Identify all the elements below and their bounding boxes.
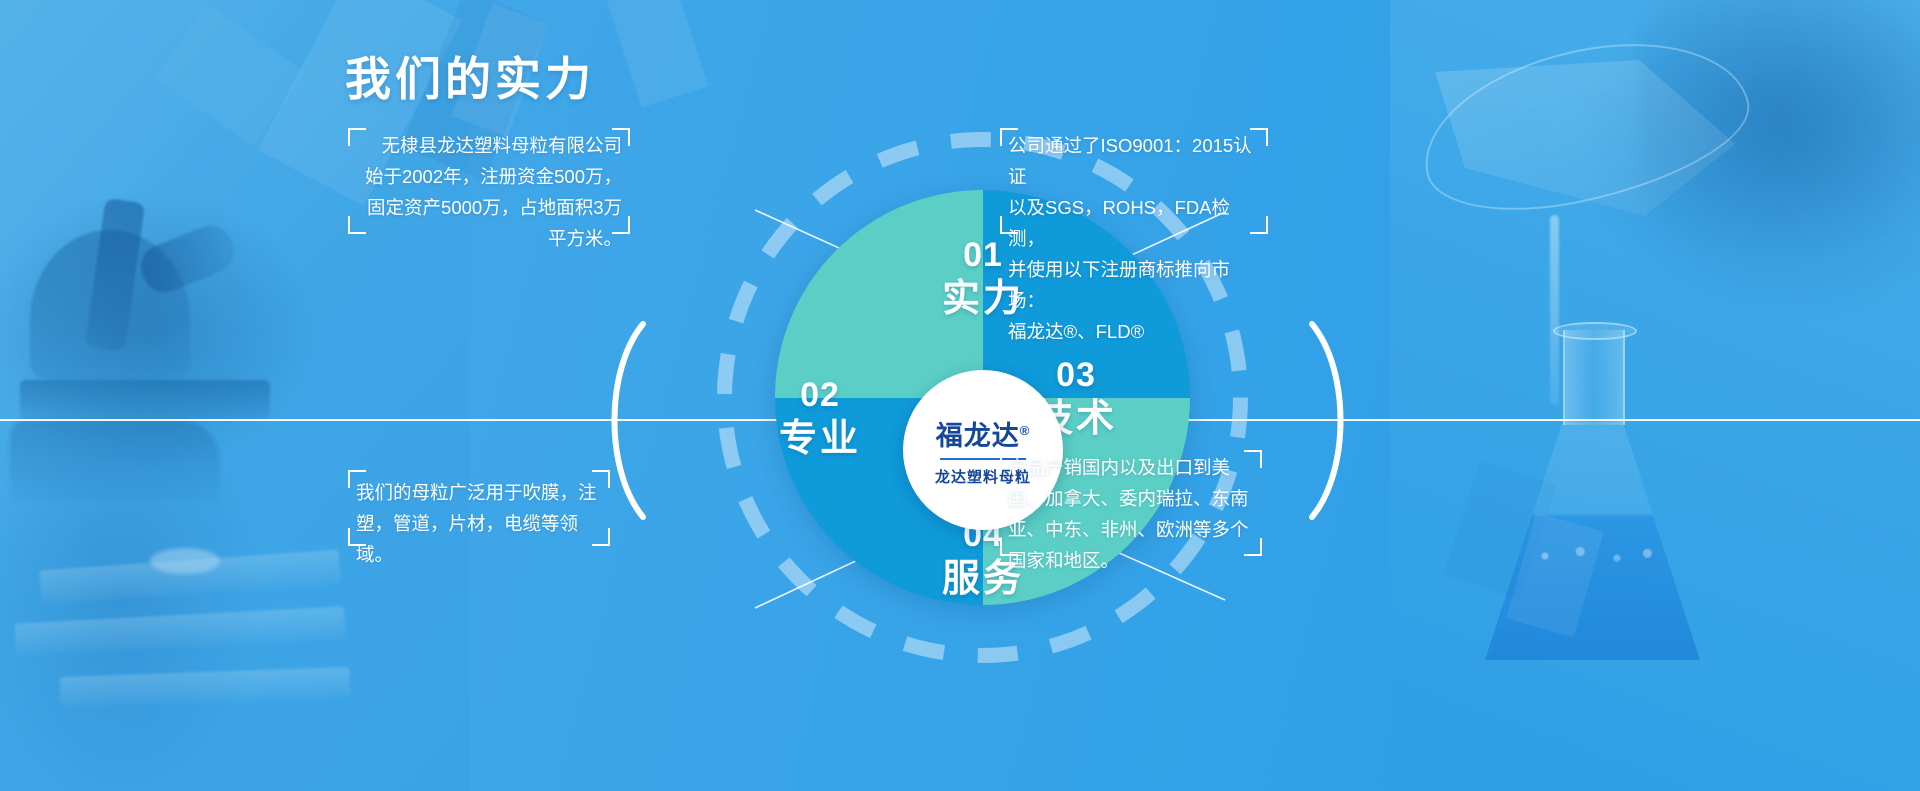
corner-bracket-icon: [1000, 128, 1018, 146]
corner-bracket-icon: [592, 470, 610, 488]
wheel-number-02: 02: [752, 378, 888, 412]
corner-bracket-icon: [1244, 450, 1262, 468]
brand-name: 福龙达: [936, 421, 1020, 451]
corner-bracket-icon: [348, 216, 366, 234]
corner-bracket-icon: [1000, 538, 1018, 556]
right-bracket-decoration: [1300, 318, 1370, 523]
callout-text: 公司通过了ISO9001：2015认证 以及SGS，ROHS，FDA检测， 并使…: [1000, 128, 1268, 349]
callout-bottom-right: 产品产销国内以及出口到美 国、加拿大、委内瑞拉、东南 亚、中东、非州、欧洲等多个…: [1000, 450, 1262, 556]
corner-bracket-icon: [1250, 128, 1268, 146]
corner-bracket-icon: [1244, 538, 1262, 556]
content-layer: 我们的实力 01 实力 02 专业 03 技术 04 服务: [0, 0, 1920, 791]
corner-bracket-icon: [348, 470, 366, 488]
brand-name-wrap: 福龙达®: [936, 414, 1031, 453]
wheel-label-02: 02 专业: [752, 378, 888, 458]
callout-text: 产品产销国内以及出口到美 国、加拿大、委内瑞拉、东南 亚、中东、非州、欧洲等多个…: [1000, 450, 1262, 578]
corner-bracket-icon: [612, 216, 630, 234]
corner-bracket-icon: [348, 128, 366, 146]
corner-bracket-icon: [1250, 216, 1268, 234]
callout-top-left: 无棣县龙达塑料母粒有限公司 始于2002年，注册资金500万， 固定资产5000…: [348, 128, 630, 234]
corner-bracket-icon: [592, 528, 610, 546]
corner-bracket-icon: [612, 128, 630, 146]
corner-bracket-icon: [1000, 216, 1018, 234]
callout-text: 我们的母粒广泛用于吹膜，注 塑，管道，片材，电缆等领域。: [348, 470, 610, 577]
callout-text: 无棣县龙达塑料母粒有限公司 始于2002年，注册资金500万， 固定资产5000…: [348, 128, 630, 256]
page-title: 我们的实力: [345, 43, 595, 109]
corner-bracket-icon: [1000, 450, 1018, 468]
corner-bracket-icon: [348, 528, 366, 546]
callout-top-right: 公司通过了ISO9001：2015认证 以及SGS，ROHS，FDA检测， 并使…: [1000, 128, 1268, 234]
registered-trademark-icon: ®: [1020, 423, 1031, 438]
callout-bottom-left: 我们的母粒广泛用于吹膜，注 塑，管道，片材，电缆等领域。: [348, 470, 610, 546]
wheel-text-02: 专业: [752, 420, 888, 458]
